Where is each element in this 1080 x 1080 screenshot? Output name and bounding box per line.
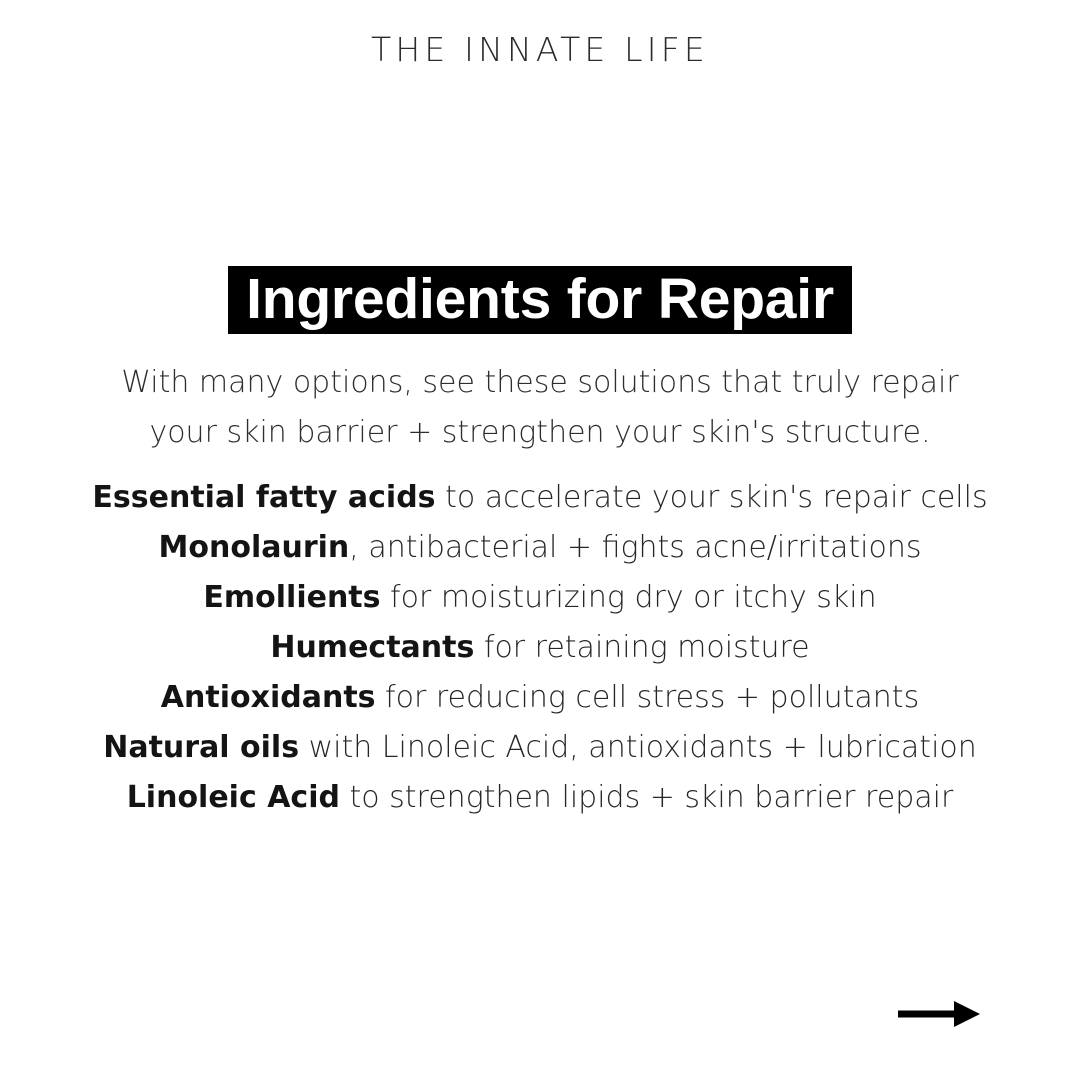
- list-item: Emollients for moisturizing dry or itchy…: [0, 573, 1080, 623]
- list-item: Antioxidants for reducing cell stress + …: [0, 673, 1080, 723]
- next-slide-button[interactable]: [896, 996, 982, 1032]
- list-item: Essential fatty acids to accelerate your…: [0, 473, 1080, 523]
- ingredient-name: Monolaurin: [159, 530, 350, 565]
- ingredient-description: to strengthen lipids + skin barrier repa…: [340, 780, 953, 815]
- subtitle-line-2: your skin barrier + strengthen your skin…: [0, 408, 1080, 458]
- arrow-right-icon: [896, 996, 982, 1032]
- ingredient-name: Antioxidants: [161, 680, 376, 715]
- list-item: Natural oils with Linoleic Acid, antioxi…: [0, 723, 1080, 773]
- ingredient-description: for retaining moisture: [474, 630, 809, 665]
- ingredient-description: , antibacterial + fights acne/irritation…: [349, 530, 921, 565]
- ingredient-name: Natural oils: [103, 730, 299, 765]
- list-item: Monolaurin, antibacterial + fights acne/…: [0, 523, 1080, 573]
- subtitle-block: With many options, see these solutions t…: [0, 358, 1080, 458]
- slide-canvas: THE INNATE LIFE Ingredients for Repair W…: [0, 0, 1080, 1080]
- ingredient-list: Essential fatty acids to accelerate your…: [0, 473, 1080, 823]
- ingredient-name: Humectants: [270, 630, 474, 665]
- title-banner-container: Ingredients for Repair: [0, 266, 1080, 334]
- subtitle-line-1: With many options, see these solutions t…: [0, 358, 1080, 408]
- ingredient-name: Essential fatty acids: [92, 480, 435, 515]
- brand-title: THE INNATE LIFE: [0, 32, 1080, 68]
- ingredient-description: for reducing cell stress + pollutants: [376, 680, 920, 715]
- ingredient-description: for moisturizing dry or itchy skin: [381, 580, 877, 615]
- list-item: Humectants for retaining moisture: [0, 623, 1080, 673]
- ingredient-name: Emollients: [203, 580, 380, 615]
- ingredient-description: to accelerate your skin's repair cells: [436, 480, 988, 515]
- list-item: Linoleic Acid to strengthen lipids + ski…: [0, 773, 1080, 823]
- ingredient-name: Linoleic Acid: [127, 780, 340, 815]
- ingredient-description: with Linoleic Acid, antioxidants + lubri…: [299, 730, 977, 765]
- page-title: Ingredients for Repair: [228, 266, 852, 334]
